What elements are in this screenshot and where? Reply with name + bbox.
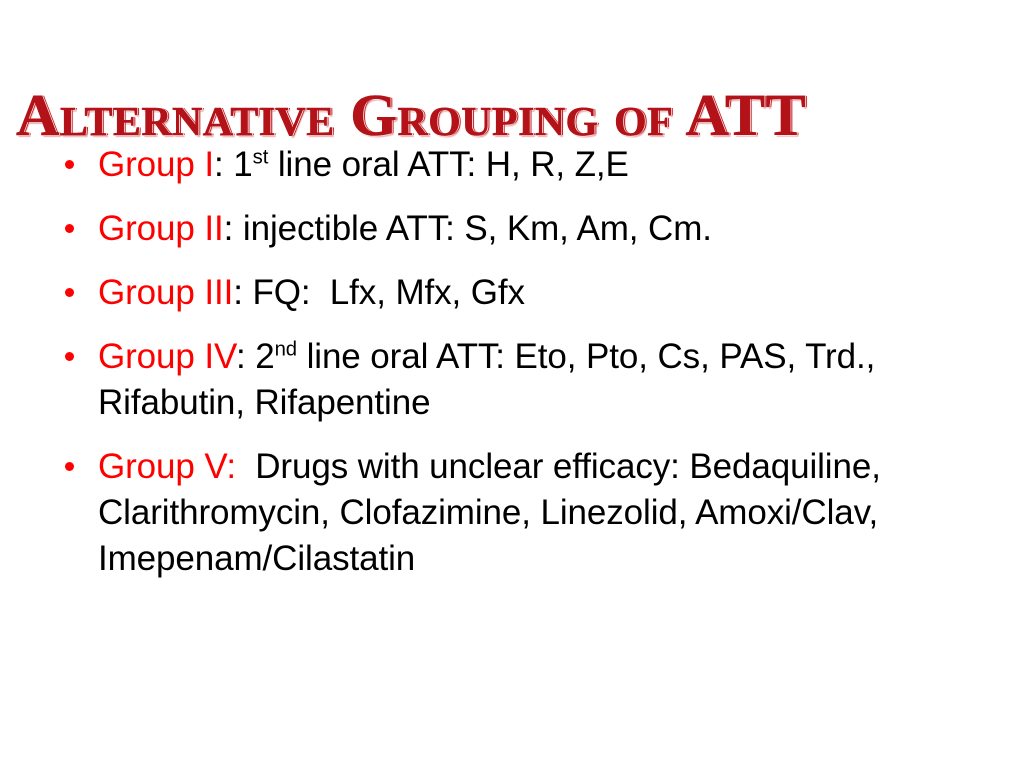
bullet-dot-icon [65, 160, 74, 169]
list-item-text-after-sup: line oral ATT: H, R, Z,E [268, 145, 629, 184]
group-label-separator: : [233, 273, 243, 312]
list-item-text-before-sup: injectible ATT: S, Km, Am, Cm. [233, 209, 712, 248]
list-item[interactable]: Group I: 1st line oral ATT: H, R, Z,E [58, 142, 998, 188]
group-label-separator: : [214, 145, 224, 184]
list-item[interactable]: Group IV: 2nd line oral ATT: Eto, Pto, C… [58, 334, 998, 426]
bullet-list: Group I: 1st line oral ATT: H, R, Z,E Gr… [58, 142, 998, 582]
slide-canvas: Alternative Grouping of ATT Group I: 1st… [0, 0, 1024, 768]
group-label-separator: : [236, 337, 246, 376]
list-item[interactable]: Group III: FQ: Lfx, Mfx, Gfx [58, 270, 998, 316]
group-label: Group IV [98, 337, 236, 376]
list-item[interactable]: Group V: Drugs with unclear efficacy: Be… [58, 444, 998, 582]
list-item[interactable]: Group II: injectible ATT: S, Km, Am, Cm. [58, 206, 998, 252]
list-item-text-before-sup: FQ: Lfx, Mfx, Gfx [243, 273, 525, 312]
list-item-text: Group IV: 2nd line oral ATT: Eto, Pto, C… [98, 334, 998, 426]
ordinal-suffix: st [253, 146, 269, 168]
list-item-text: Group I: 1st line oral ATT: H, R, Z,E [98, 142, 998, 188]
list-item-text: Group V: Drugs with unclear efficacy: Be… [98, 444, 998, 582]
group-label-separator: : [224, 209, 234, 248]
bullet-dot-icon [65, 462, 74, 471]
ordinal-suffix: nd [275, 338, 297, 360]
bullet-dot-icon [65, 224, 74, 233]
bullet-dot-icon [65, 352, 74, 361]
list-item-text: Group II: injectible ATT: S, Km, Am, Cm. [98, 206, 998, 252]
bullet-dot-icon [65, 288, 74, 297]
group-label: Group I [98, 145, 214, 184]
group-label: Group V: [98, 447, 236, 486]
group-label: Group II [98, 209, 224, 248]
list-item-text-before-sup: 2 [246, 337, 275, 376]
group-label: Group III [98, 273, 233, 312]
list-item-text-before-sup: 1 [224, 145, 253, 184]
page-title: Alternative Grouping of ATT [16, 84, 1024, 146]
list-item-text: Group III: FQ: Lfx, Mfx, Gfx [98, 270, 998, 316]
